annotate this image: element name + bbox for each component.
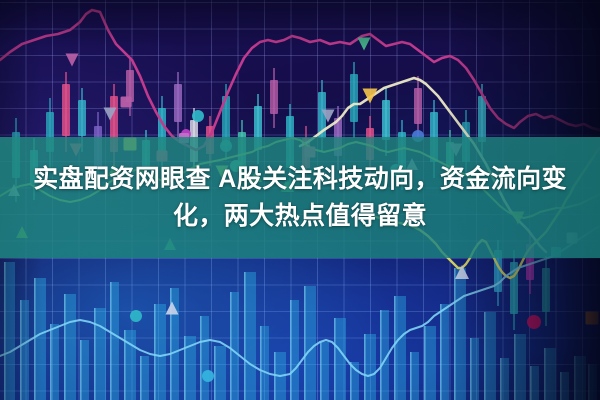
headline-line-1: 实盘配资网眼查 A股关注科技动向，资金流向变 <box>33 161 567 198</box>
headline-line-2: 化，两大热点值得留意 <box>173 198 427 235</box>
banner-image: 实盘配资网眼查 A股关注科技动向，资金流向变 化，两大热点值得留意 <box>0 0 600 400</box>
headline-text: 实盘配资网眼查 A股关注科技动向，资金流向变 化，两大热点值得留意 <box>0 137 600 258</box>
